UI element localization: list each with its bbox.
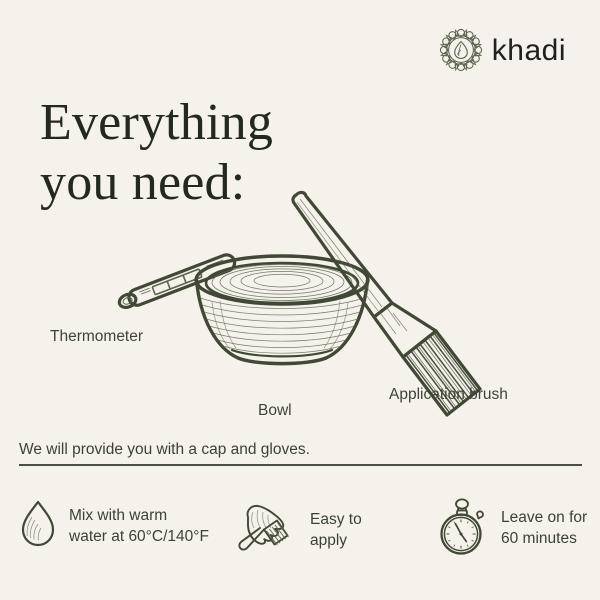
label-thermometer: Thermometer — [50, 328, 143, 346]
feature-mix-with-warm-water: Mix with warm water at 60°C/140°F — [18, 498, 209, 555]
khadi-mandala-leaf-emblem-icon — [439, 28, 483, 72]
brand-lockup: khadi — [439, 28, 566, 72]
stopwatch-icon — [434, 496, 490, 561]
label-bowl: Bowl — [258, 402, 292, 420]
feature-leave-on-for-60-minutes: Leave on for 60 minutes — [434, 496, 587, 561]
feature-strip: Mix with warm water at 60°C/140°F — [0, 490, 600, 580]
page-title-line-1: Everything — [40, 93, 273, 153]
feature-text-easy-to-apply: Easy to apply — [310, 510, 362, 551]
application-brush-illustration — [293, 192, 480, 415]
hand-holding-brush-icon — [237, 498, 299, 563]
feature-text-mix-with-warm-water: Mix with warm water at 60°C/140°F — [69, 506, 209, 547]
feature-easy-to-apply: Easy to apply — [237, 498, 362, 563]
provision-note: We will provide you with a cap and glove… — [19, 441, 310, 459]
section-divider — [19, 464, 582, 466]
poster-canvas: khadi Everything you need: — [0, 0, 600, 600]
brand-wordmark: khadi — [492, 36, 566, 66]
feature-text-leave-on-for-60-minutes: Leave on for 60 minutes — [501, 508, 587, 549]
tools-illustration-group — [0, 175, 600, 425]
label-application-brush: Application brush — [389, 386, 508, 404]
water-drop-icon — [18, 498, 58, 555]
